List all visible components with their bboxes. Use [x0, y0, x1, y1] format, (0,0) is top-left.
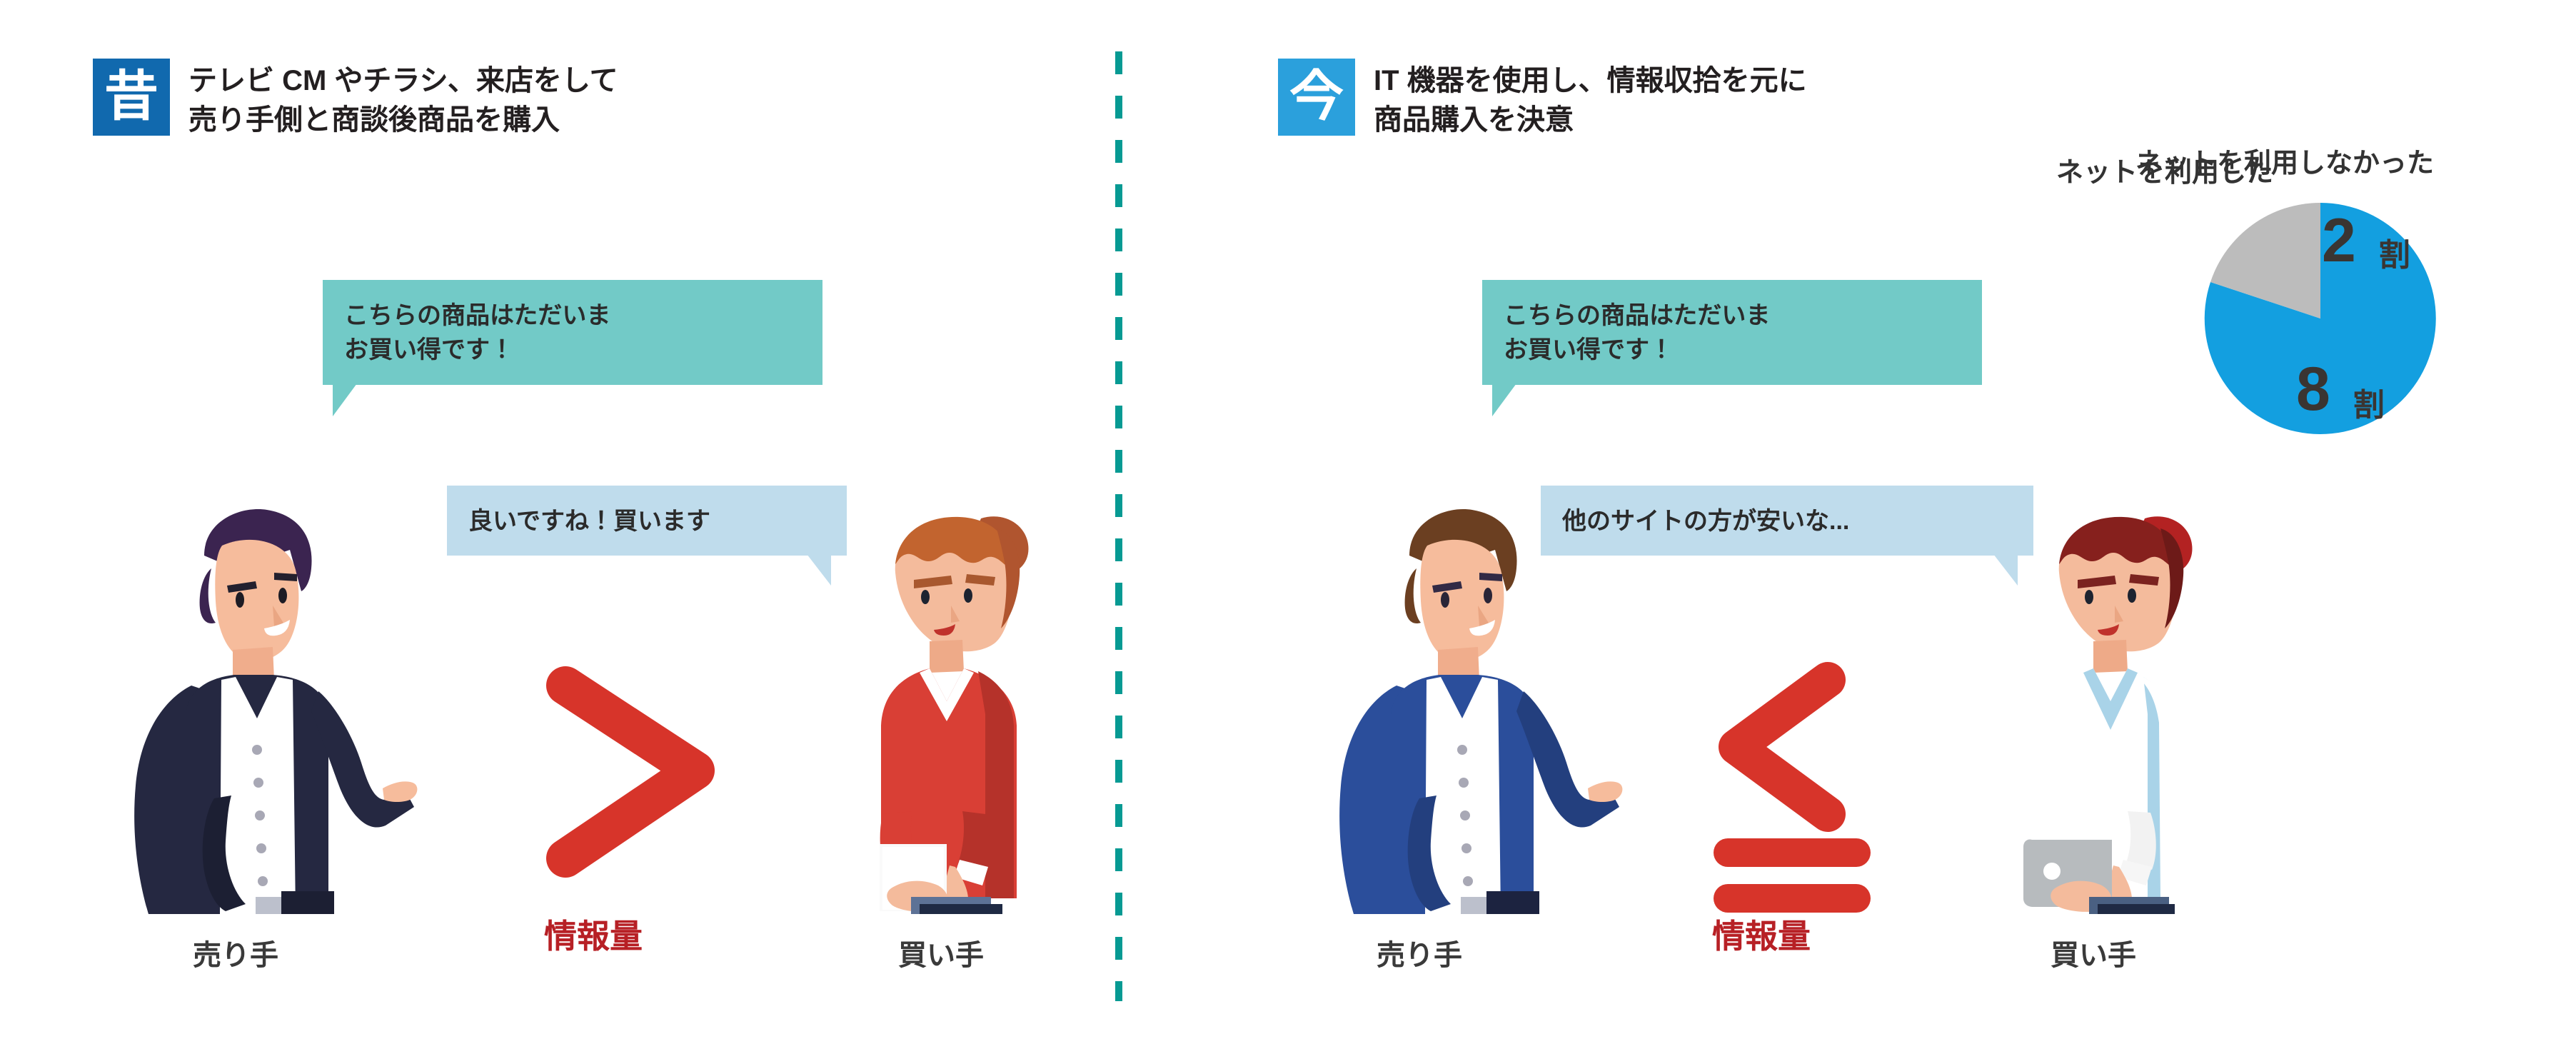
panel-header-past: 昔 テレビ CM やチラシ、来店をして 売り手側と商談後商品を購入 — [93, 59, 618, 140]
greater-than-icon — [534, 654, 748, 890]
seller-figure-now — [1325, 500, 1625, 914]
pie-value-not-used: 2 — [2322, 210, 2356, 271]
person-female-illustration — [854, 500, 1068, 914]
headline-past: テレビ CM やチラシ、来店をして 売り手側と商談後商品を購入 — [188, 59, 618, 140]
panel-divider — [1115, 51, 1122, 1001]
infographic-canvas: 昔 テレビ CM やチラシ、来店をして 売り手側と商談後商品を購入 こちらの商品… — [0, 0, 2576, 1064]
headline-now: IT 機器を使用し、情報収拾を元に 商品購入を決意 — [1374, 59, 1807, 140]
bubble-tail-icon — [1993, 554, 2018, 586]
bubble-tail-icon — [1492, 383, 1516, 416]
headline-now-line1: IT 機器を使用し、情報収拾を元に — [1374, 61, 1807, 101]
bubble-tail-icon — [333, 383, 357, 416]
seller-label-past: 売り手 — [193, 941, 278, 970]
person-male-illustration — [1325, 500, 1625, 914]
compare-symbol-past — [534, 654, 748, 890]
less-than-or-equal-icon — [1705, 656, 1912, 927]
pie-chart-title: ネットを利用しなかった — [2056, 150, 2513, 177]
headline-past-line2: 売り手側と商談後商品を購入 — [188, 101, 618, 140]
headline-now-line2: 商品購入を決意 — [1374, 101, 1807, 140]
buyer-label-now: 買い手 — [2051, 941, 2136, 970]
pie-unit-not-used: 割 — [2379, 240, 2410, 271]
person-male-illustration — [120, 500, 420, 914]
buyer-speech-bubble-past: 良いですね！買います — [447, 486, 847, 556]
seller-speech-bubble-now: こちらの商品はただいま お買い得です！ — [1482, 280, 1982, 385]
seller-speech-bubble-past: こちらの商品はただいま お買い得です！ — [323, 280, 822, 385]
panel-header-now: 今 IT 機器を使用し、情報収拾を元に 商品購入を決意 — [1278, 59, 1807, 140]
info-volume-label-now: 情報量 — [1712, 920, 1811, 953]
pie-value-used: 8 — [2296, 358, 2330, 420]
info-volume-label-past: 情報量 — [544, 920, 643, 953]
buyer-figure-past — [854, 500, 1068, 914]
seller-speech-text-past: こちらの商品はただいま お買い得です！ — [323, 280, 822, 385]
buyer-figure-now — [2018, 500, 2239, 914]
bubble-tail-icon — [807, 554, 831, 586]
era-badge-now: 今 — [1278, 59, 1355, 136]
era-badge-past: 昔 — [93, 59, 170, 136]
buyer-speech-text-past: 良いですね！買います — [447, 486, 847, 556]
seller-figure-past — [120, 500, 420, 914]
buyer-label-past: 買い手 — [898, 941, 984, 970]
compare-symbol-now — [1705, 656, 1912, 927]
headline-past-line1: テレビ CM やチラシ、来店をして — [188, 61, 618, 101]
seller-speech-text-now: こちらの商品はただいま お買い得です！ — [1482, 280, 1982, 385]
pie-unit-used: 割 — [2353, 390, 2385, 421]
person-female-illustration — [2018, 500, 2239, 914]
seller-label-now: 売り手 — [1377, 941, 1462, 970]
